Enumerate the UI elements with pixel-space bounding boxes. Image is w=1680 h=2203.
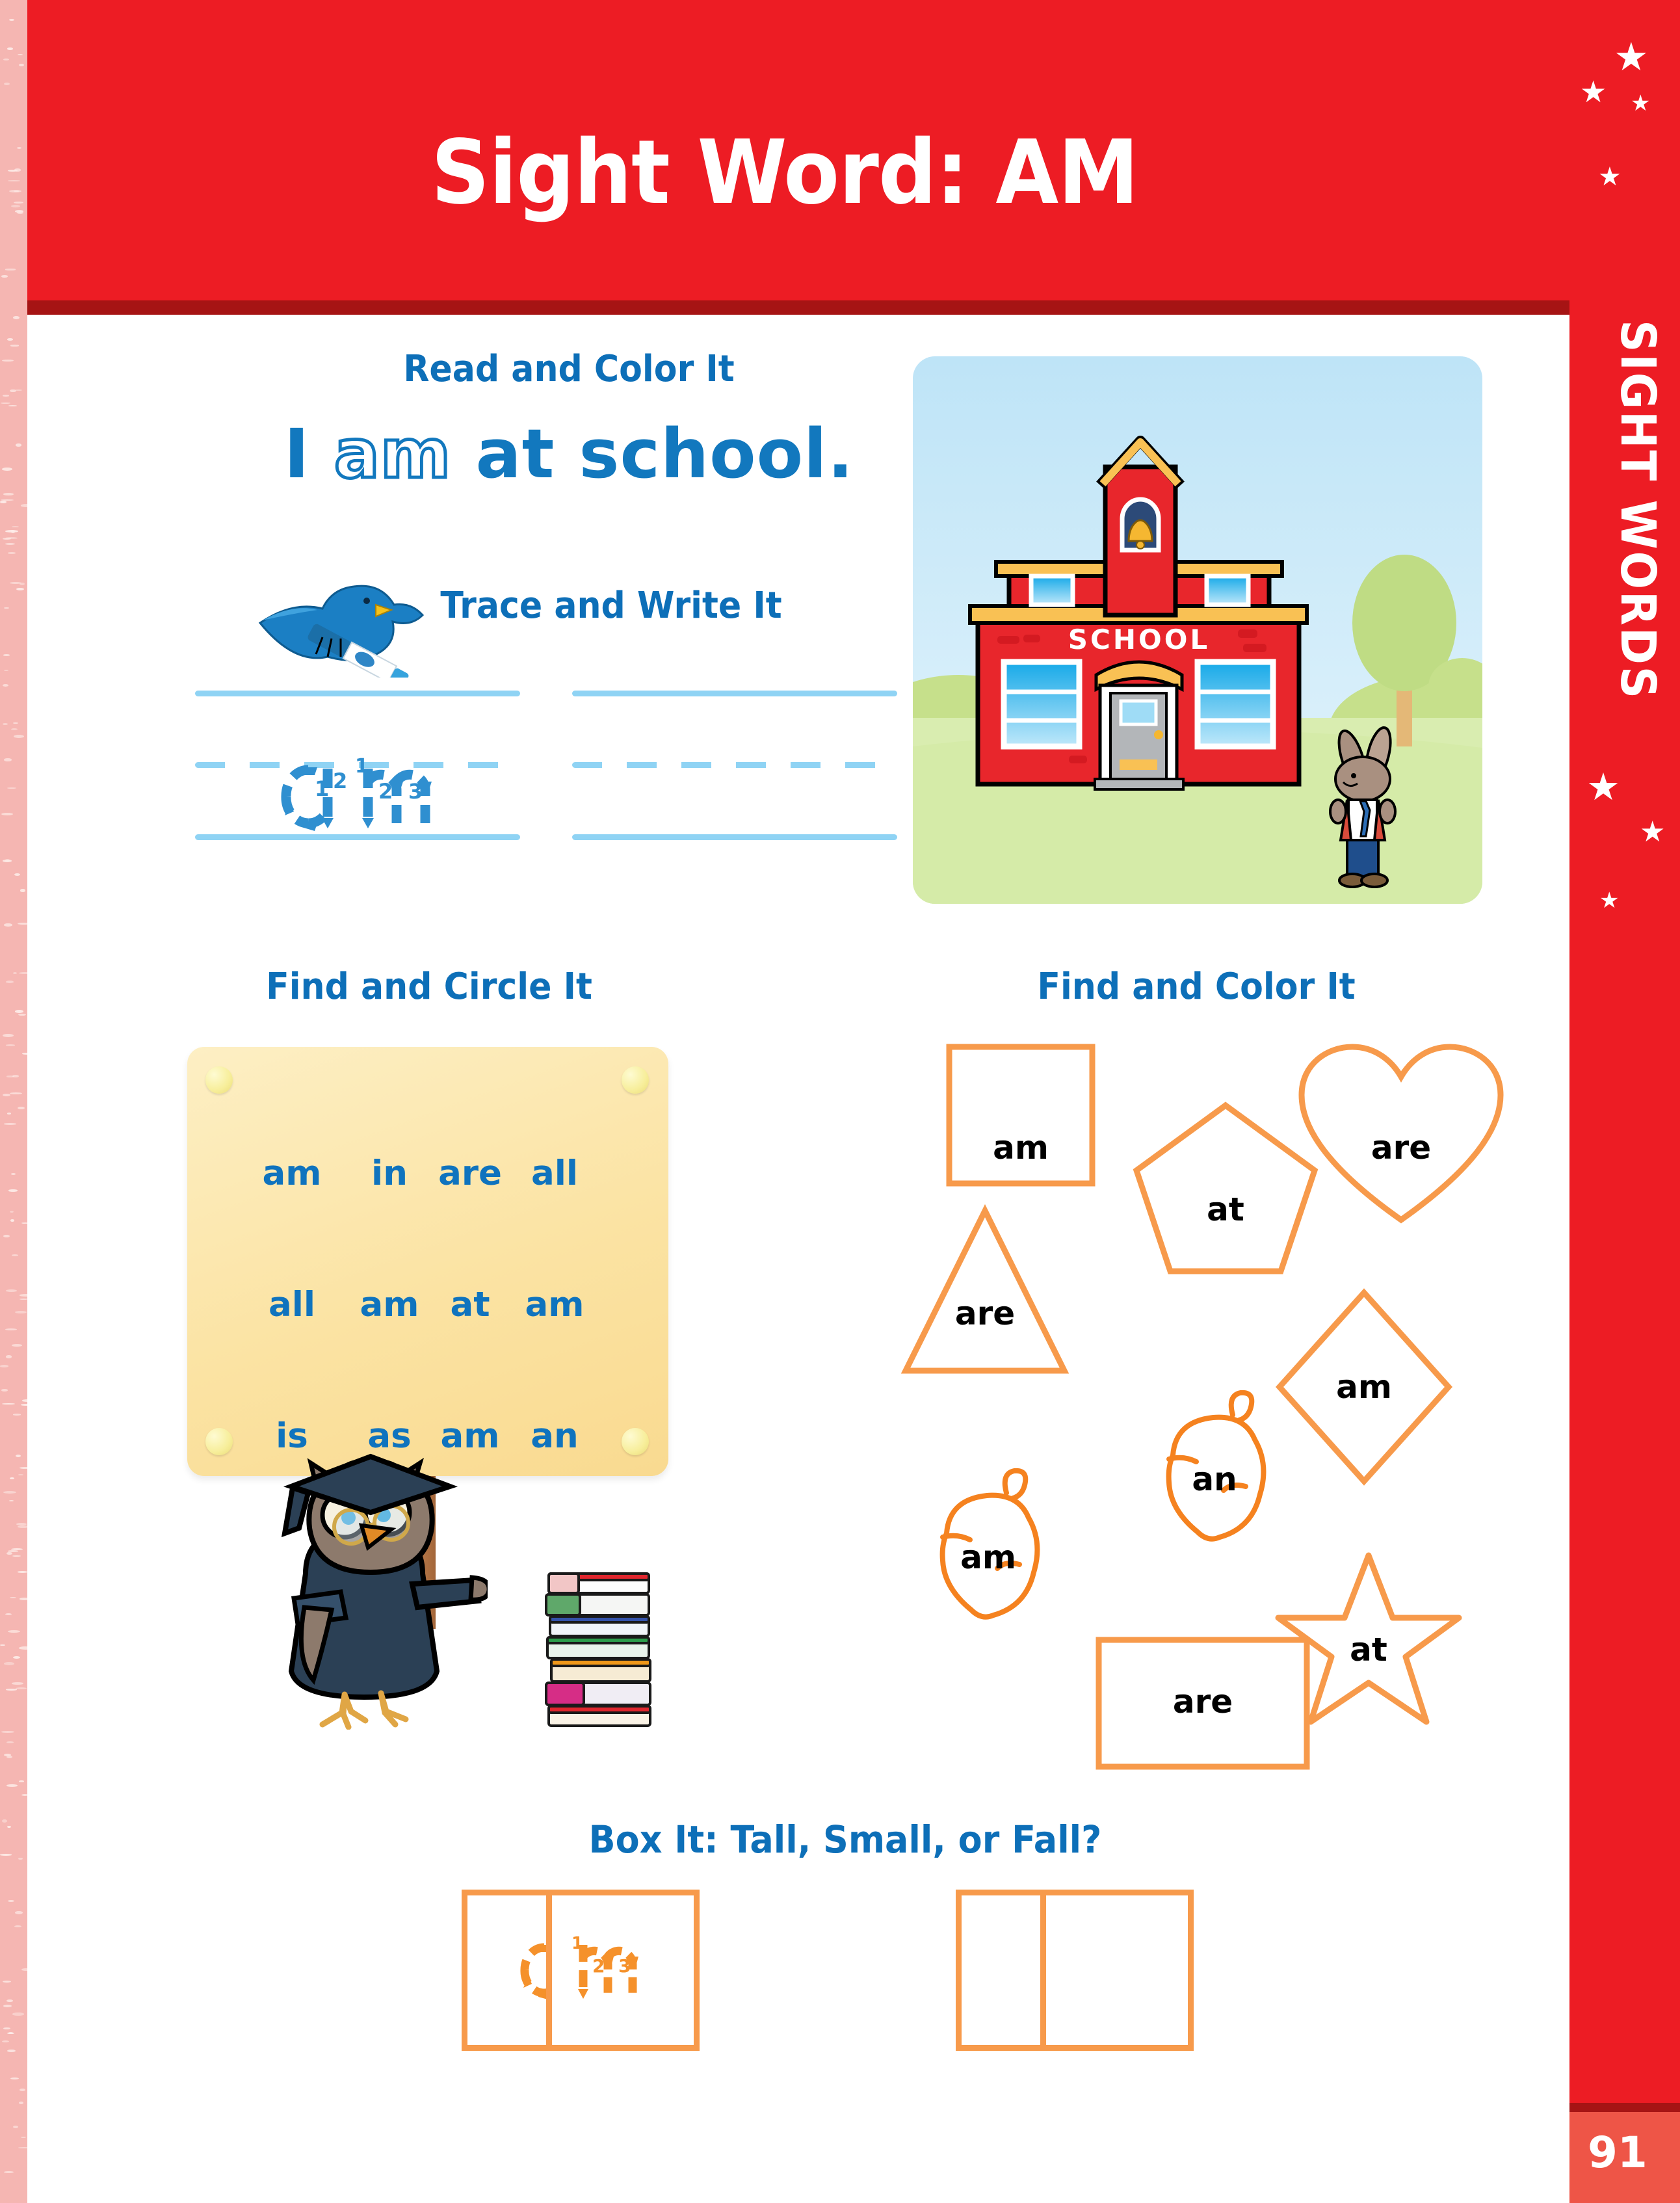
fleck <box>4 1123 16 1125</box>
word-cell[interactable]: in <box>347 1156 432 1191</box>
book-stack-icon <box>545 1561 655 1730</box>
fleck <box>10 1597 16 1598</box>
heading-box-it: Box It: Tall, Small, or Fall? <box>422 1821 1268 1858</box>
fleck <box>3 1235 9 1237</box>
fleck <box>3 1034 14 1037</box>
sentence-target-word: am <box>334 414 452 494</box>
word-cell[interactable]: am <box>347 1287 432 1322</box>
school-illustration: SCHOOL <box>913 356 1482 904</box>
word-cell[interactable]: an <box>512 1419 597 1453</box>
shape-square[interactable] <box>943 1040 1099 1190</box>
fleck <box>8 1189 18 1191</box>
fleck <box>20 583 25 585</box>
fleck <box>20 1294 27 1296</box>
fleck <box>3 395 9 396</box>
fleck <box>20 1299 27 1300</box>
write-top-rule-right[interactable] <box>572 691 897 696</box>
box-it-empty-2[interactable] <box>1040 1890 1194 2051</box>
fleck <box>10 1477 14 1479</box>
svg-text:1: 1 <box>571 1934 583 1953</box>
shape-word-acorn-am: am <box>910 1541 1066 1574</box>
fleck <box>12 1254 18 1256</box>
page-number-container: 91 <box>1569 2103 1680 2203</box>
fleck <box>15 1911 22 1914</box>
fleck <box>7 2033 14 2035</box>
fleck <box>4 923 12 927</box>
fleck <box>17 211 23 215</box>
fleck <box>9 19 14 21</box>
fleck <box>2 1819 7 1823</box>
board-pin <box>622 1428 649 1455</box>
word-board: am in are all all am at am is as am an <box>187 1047 668 1476</box>
write-base-rule-right[interactable] <box>572 834 897 840</box>
fleck <box>3 2005 12 2007</box>
word-cell[interactable]: am <box>512 1287 597 1322</box>
fleck <box>10 1211 14 1213</box>
fleck <box>18 923 27 925</box>
fleck <box>12 1075 19 1077</box>
fleck <box>14 1925 21 1927</box>
fleck <box>20 1467 27 1469</box>
fleck <box>18 1571 27 1573</box>
fleck <box>2 468 12 471</box>
fleck <box>8 552 15 553</box>
fleck <box>7 1552 12 1555</box>
sidebar: ★ ★ ★ ★ ★ ★ ★ <box>1569 0 1680 2103</box>
fleck <box>1 1731 14 1733</box>
svg-text:1: 1 <box>355 756 369 778</box>
fleck <box>14 202 23 204</box>
fleck <box>11 728 18 730</box>
fleck <box>1 275 7 277</box>
page-number-divider <box>1569 2103 1680 2112</box>
fleck <box>21 1222 27 1224</box>
fleck <box>3 1491 16 1494</box>
fleck <box>16 1687 27 1689</box>
board-pin <box>622 1066 649 1094</box>
shape-pentagon[interactable] <box>1131 1099 1320 1278</box>
sentence-suffix: at school. <box>451 414 854 494</box>
fleck <box>2 1403 15 1405</box>
fleck <box>5 537 17 539</box>
fleck <box>21 1968 27 1971</box>
fleck <box>8 405 17 406</box>
fleck <box>4 83 10 85</box>
fleck <box>0 501 7 503</box>
fleck <box>7 1113 11 1114</box>
board-pin <box>205 1428 233 1455</box>
svg-text:2: 2 <box>333 769 347 793</box>
fleck <box>15 1010 23 1013</box>
fleck <box>0 1365 8 1367</box>
fleck <box>6 1355 12 1358</box>
word-cell[interactable]: are <box>428 1156 512 1191</box>
fleck <box>14 735 24 738</box>
fleck <box>12 1555 21 1557</box>
fleck <box>20 1598 27 1600</box>
fleck <box>7 1999 12 2002</box>
fleck <box>6 1044 16 1046</box>
box-letter-m: 1 2 3 <box>552 1895 694 2045</box>
shape-word-diamond: am <box>1273 1371 1455 1403</box>
fleck <box>1 1389 8 1392</box>
fleck <box>6 1689 16 1690</box>
fleck <box>10 1219 15 1222</box>
fleck <box>19 64 24 66</box>
word-cell[interactable]: all <box>250 1287 334 1322</box>
fleck <box>19 1646 27 1650</box>
trace-top-rule-left <box>195 691 520 696</box>
fleck <box>7 2050 15 2052</box>
fleck <box>11 1173 16 1175</box>
fleck <box>18 2147 27 2148</box>
fleck <box>5 269 16 270</box>
fleck <box>8 1900 15 1903</box>
fleck <box>3 860 12 862</box>
fleck <box>3 2027 10 2029</box>
fleck <box>8 180 20 181</box>
fleck <box>7 787 16 789</box>
fleck <box>15 1311 27 1313</box>
school-scene-svg: SCHOOL <box>913 356 1482 904</box>
fleck <box>18 1525 27 1528</box>
fleck <box>19 972 27 974</box>
fleck <box>12 2012 24 2015</box>
fleck <box>21 2137 26 2138</box>
fleck <box>1 813 13 815</box>
heading-read-and-color: Read and Color It <box>239 351 899 388</box>
star-icon: ★ <box>1614 38 1649 77</box>
fleck <box>7 1741 14 1743</box>
heading-find-and-color: Find and Color It <box>949 969 1445 1005</box>
fleck <box>18 1474 23 1475</box>
fleck <box>6 981 14 983</box>
fleck <box>5 543 15 546</box>
fleck <box>16 1455 21 1457</box>
fleck <box>13 2126 18 2128</box>
fleck <box>21 1404 27 1406</box>
bird-with-marker-icon <box>246 561 441 678</box>
fleck <box>4 1662 14 1665</box>
svg-text:1: 1 <box>315 776 329 801</box>
fleck <box>0 1644 5 1646</box>
fleck <box>5 1613 12 1615</box>
fleck <box>3 1981 11 1983</box>
shape-word-pentagon: at <box>1131 1193 1320 1226</box>
fleck <box>3 654 10 655</box>
fleck <box>2 360 14 362</box>
fleck <box>10 1092 22 1094</box>
fleck <box>21 1794 27 1796</box>
shape-word-acorn-an: an <box>1136 1463 1293 1496</box>
fleck <box>10 389 16 393</box>
fleck <box>1 402 10 404</box>
fleck <box>18 1107 25 1109</box>
star-icon: ★ <box>1580 77 1607 107</box>
box-it-filled-m[interactable]: 1 2 3 <box>546 1890 700 2051</box>
fleck <box>8 1630 20 1633</box>
fleck <box>9 1500 14 1501</box>
fleck <box>7 338 13 341</box>
fleck <box>17 147 21 149</box>
fleck <box>21 504 27 507</box>
fleck <box>15 389 22 391</box>
fleck <box>7 1756 12 1758</box>
word-cell[interactable]: am <box>250 1156 334 1191</box>
page-number: 91 <box>1588 2131 1647 2174</box>
shape-triangle[interactable] <box>900 1203 1070 1379</box>
fleck <box>16 588 24 590</box>
write-mid-rule-right[interactable] <box>572 762 897 768</box>
fleck <box>13 722 18 724</box>
shape-word-star: at <box>1274 1633 1463 1666</box>
fleck <box>4 607 9 609</box>
star-icon: ★ <box>1631 92 1650 114</box>
fleck <box>3 493 14 495</box>
fleck <box>7 1784 18 1787</box>
fleck <box>13 316 20 319</box>
page-title: Sight Word: AM <box>88 129 1482 217</box>
fleck <box>12 1682 24 1685</box>
svg-text:3: 3 <box>408 779 423 804</box>
star-icon: ★ <box>1586 769 1620 806</box>
fleck <box>2 2040 9 2042</box>
fleck <box>18 54 23 55</box>
fleck <box>12 526 19 527</box>
fleck <box>11 205 20 207</box>
trace-word-am[interactable]: 1 2 1 2 3 <box>260 756 481 840</box>
word-cell[interactable]: all <box>512 1156 597 1191</box>
svg-text:2: 2 <box>378 779 393 804</box>
fleck <box>13 1414 21 1415</box>
fleck <box>18 1858 22 1860</box>
fleck <box>20 2089 25 2091</box>
heading-trace-and-write: Trace and Write It <box>417 588 804 624</box>
fleck <box>10 345 20 346</box>
shape-word-square: am <box>943 1131 1099 1164</box>
word-cell[interactable]: at <box>428 1287 512 1322</box>
sentence-prefix: I <box>284 414 334 494</box>
svg-text:2: 2 <box>592 1955 605 1977</box>
fleck <box>18 1014 26 1016</box>
fleck <box>19 1780 24 1782</box>
fleck <box>3 684 8 687</box>
fleck <box>22 1053 27 1055</box>
fleck <box>7 1826 11 1828</box>
graduate-owl-icon <box>254 1444 488 1730</box>
fleck <box>7 47 13 50</box>
school-sign-text: SCHOOL <box>1068 624 1210 655</box>
fleck <box>11 530 16 533</box>
fleck <box>4 2171 14 2173</box>
fleck <box>5 1328 17 1330</box>
shape-word-heart: are <box>1294 1131 1508 1164</box>
fleck <box>16 443 21 446</box>
svg-text:3: 3 <box>618 1955 631 1977</box>
fleck <box>13 1656 20 1659</box>
star-icon: ★ <box>1640 818 1665 847</box>
fleck <box>6 1289 17 1292</box>
heading-find-and-circle: Find and Circle It <box>205 969 653 1005</box>
fleck <box>9 190 21 192</box>
fleck <box>13 972 17 974</box>
read-and-color-sentence: I am at school. <box>215 414 923 495</box>
fleck <box>4 670 8 671</box>
fleck <box>12 1344 22 1347</box>
star-icon: ★ <box>1599 890 1619 912</box>
fleck <box>3 723 8 725</box>
left-decorative-strip <box>0 0 27 2203</box>
fleck <box>19 2102 23 2104</box>
sidebar-label: SIGHT WORDS <box>1582 320 1666 700</box>
fleck <box>14 873 20 876</box>
fleck <box>0 1854 12 1856</box>
fleck <box>4 758 12 761</box>
fleck <box>20 889 25 891</box>
shape-word-triangle: are <box>900 1297 1070 1330</box>
fleck <box>3 59 10 61</box>
fleck <box>3 1094 10 1097</box>
fleck <box>10 2078 19 2079</box>
board-pin <box>205 1066 233 1094</box>
header-shadow-band <box>27 300 1646 315</box>
star-icon: ★ <box>1598 164 1621 190</box>
fleck <box>22 1399 27 1402</box>
